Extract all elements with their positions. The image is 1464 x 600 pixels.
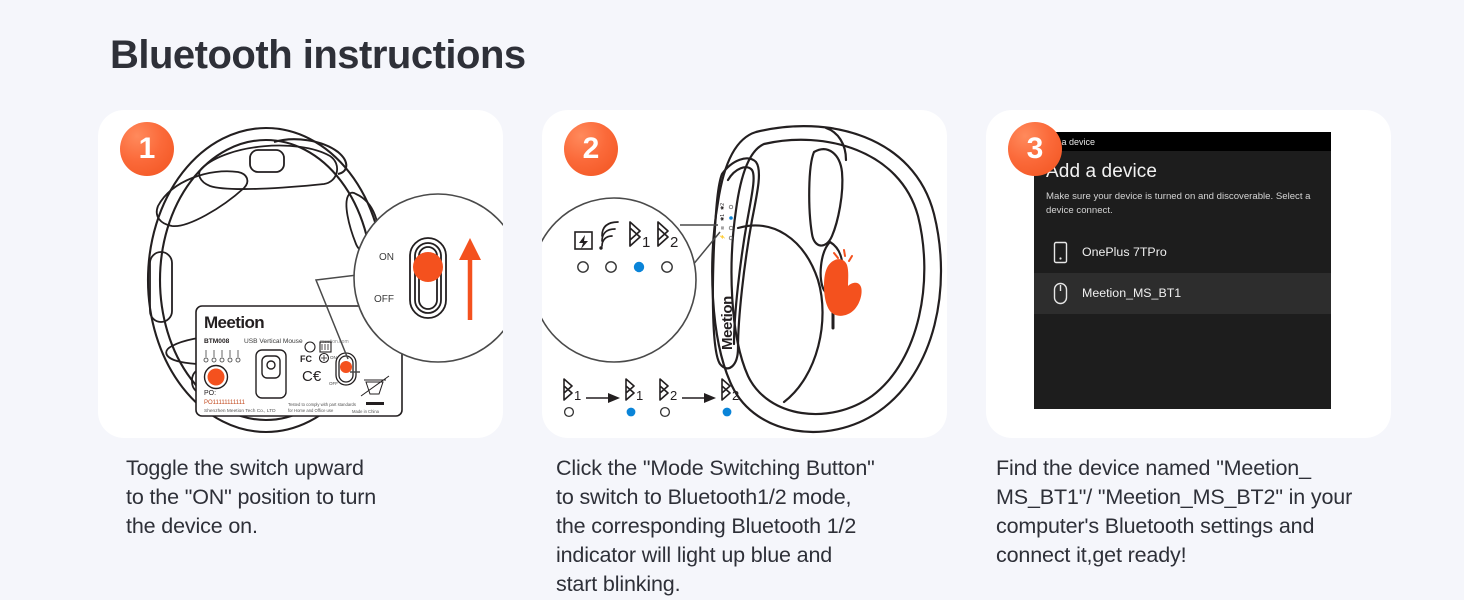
device-list-item[interactable]: OnePlus 7TPro xyxy=(1046,232,1319,273)
step-badge-3: 3 xyxy=(1008,122,1062,176)
svg-text:1: 1 xyxy=(574,388,581,403)
svg-text:2: 2 xyxy=(732,388,739,403)
step-badge-1: 1 xyxy=(120,122,174,176)
step-1-card: Meetion Meetion BTM008 USB Vertical Mous… xyxy=(98,110,503,438)
svg-text:C€: C€ xyxy=(302,368,322,385)
svg-text:USB Vertical Mouse: USB Vertical Mouse xyxy=(244,338,303,345)
svg-text:ON: ON xyxy=(330,355,337,360)
step-2-card: Meetion ⚡≋✱1✱2 xyxy=(542,110,947,438)
step-badge-2: 2 xyxy=(564,122,618,176)
step-panel-2: Meetion ⚡≋✱1✱2 xyxy=(542,110,947,599)
dialog-heading: Add a device xyxy=(1046,161,1319,183)
phone-icon xyxy=(1051,241,1070,264)
svg-text:✱2: ✱2 xyxy=(720,203,726,210)
svg-text:1: 1 xyxy=(636,388,643,403)
step-3-card: Add a device Add a device Make sure your… xyxy=(986,110,1391,438)
svg-text:2: 2 xyxy=(670,388,677,403)
dialog-titlebar: Add a device xyxy=(1034,132,1331,151)
dialog-body: Add a device Make sure your device is tu… xyxy=(1034,151,1331,314)
svg-text:≋: ≋ xyxy=(720,226,726,230)
step-caption-2: Click the "Mode Switching Button" to swi… xyxy=(542,454,947,599)
mouse-icon xyxy=(1051,282,1070,305)
svg-text:PO11111111111: PO11111111111 xyxy=(204,400,246,406)
add-a-device-dialog: Add a device Add a device Make sure your… xyxy=(1034,132,1331,409)
device-name: Meetion_MS_BT1 xyxy=(1082,286,1181,300)
svg-text:2: 2 xyxy=(670,234,678,251)
device-list-item[interactable]: Meetion_MS_BT1 xyxy=(1034,273,1331,314)
step-panel-3: Add a device Add a device Make sure your… xyxy=(986,110,1391,599)
step-caption-3: Find the device named "Meetion_ MS_BT1"/… xyxy=(986,454,1391,570)
svg-text:OFF: OFF xyxy=(374,294,394,305)
svg-text:Meetion: Meetion xyxy=(719,296,736,350)
svg-text:Made in China: Made in China xyxy=(352,409,380,414)
svg-text:Tested to comply with part sta: Tested to comply with part standards xyxy=(288,402,356,407)
svg-text:⚡: ⚡ xyxy=(719,234,726,240)
device-name: OnePlus 7TPro xyxy=(1082,245,1167,259)
svg-text:PO:: PO: xyxy=(204,390,216,397)
svg-text:OFF: OFF xyxy=(329,381,338,386)
page-title: Bluetooth instructions xyxy=(110,33,526,78)
svg-text:✱1: ✱1 xyxy=(720,214,726,221)
step-caption-1: Toggle the switch upward to the "ON" pos… xyxy=(98,454,503,541)
steps-container: Meetion Meetion BTM008 USB Vertical Mous… xyxy=(98,110,1378,599)
svg-text:Shenzhen Meetion Tech Co., LTD: Shenzhen Meetion Tech Co., LTD xyxy=(204,408,276,414)
dialog-subtitle: Make sure your device is turned on and d… xyxy=(1046,190,1319,218)
svg-text:FC: FC xyxy=(300,354,312,364)
svg-text:BTM008: BTM008 xyxy=(204,338,230,345)
svg-text:ON: ON xyxy=(379,252,394,263)
led-transition-diagram: 1 1 2 xyxy=(564,379,739,416)
step-panel-1: Meetion Meetion BTM008 USB Vertical Mous… xyxy=(98,110,503,599)
svg-text:for Home and Office use: for Home and Office use xyxy=(288,408,334,413)
svg-text:1: 1 xyxy=(642,234,650,251)
svg-text:Meetion: Meetion xyxy=(204,313,264,332)
